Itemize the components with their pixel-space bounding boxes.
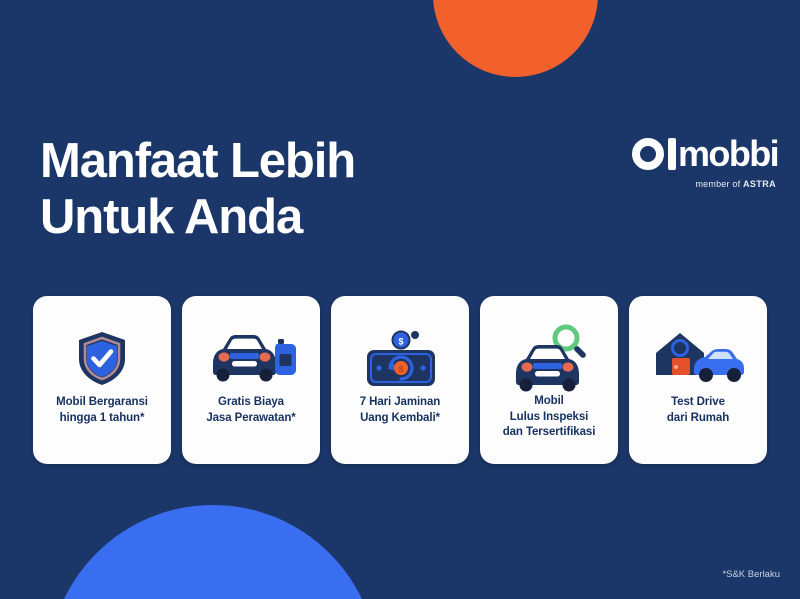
svg-text:$: $: [399, 365, 404, 374]
benefit-card-label: Mobil Bergaransi hingga 1 tahun*: [50, 394, 154, 426]
logo-tagline-brand: ASTRA: [743, 179, 776, 189]
logo-o-icon: [632, 138, 664, 170]
svg-text:$: $: [398, 337, 403, 347]
logo-mark: mobbi: [632, 134, 778, 174]
car-oil-bottle-icon: [182, 322, 320, 394]
benefit-card-label: 7 Hari Jaminan Uang Kembali*: [354, 394, 446, 426]
poster-canvas: Manfaat Lebih Untuk Anda mobbi member of…: [0, 0, 800, 599]
benefit-card-label: Gratis Biaya Jasa Perawatan*: [200, 394, 301, 426]
logo-wordmark: mobbi: [678, 138, 778, 170]
home-test-drive-icon: [629, 322, 767, 394]
logo-tagline: member of ASTRA: [632, 179, 778, 189]
benefit-card-home-test-drive[interactable]: Test Drive dari Rumah: [629, 296, 767, 464]
money-back-icon: $ $: [331, 322, 469, 394]
benefits-card-row: Mobil Bergaransi hingga 1 tahun*: [33, 296, 767, 464]
benefit-card-inspection[interactable]: Mobil Lulus Inspeksi dan Tersertifikasi: [480, 296, 618, 464]
blue-circle-decoration: [48, 505, 378, 599]
shield-check-icon: [33, 322, 171, 394]
benefit-card-warranty[interactable]: Mobil Bergaransi hingga 1 tahun*: [33, 296, 171, 464]
disclaimer-text: *S&K Berlaku: [722, 569, 780, 580]
benefit-card-label: Test Drive dari Rumah: [661, 394, 735, 426]
benefit-card-label: Mobil Lulus Inspeksi dan Tersertifikasi: [497, 394, 602, 441]
page-title: Manfaat Lebih Untuk Anda: [40, 133, 355, 245]
benefit-card-money-back[interactable]: $ $ 7 Hari Jaminan Uang Kembali*: [331, 296, 469, 464]
car-inspection-icon: [480, 322, 618, 394]
benefit-card-free-service[interactable]: Gratis Biaya Jasa Perawatan*: [182, 296, 320, 464]
logo-bar-icon: [668, 138, 676, 170]
orange-circle-decoration: [433, 0, 598, 77]
brand-logo: mobbi member of ASTRA: [632, 134, 778, 189]
logo-tagline-prefix: member of: [695, 179, 743, 189]
